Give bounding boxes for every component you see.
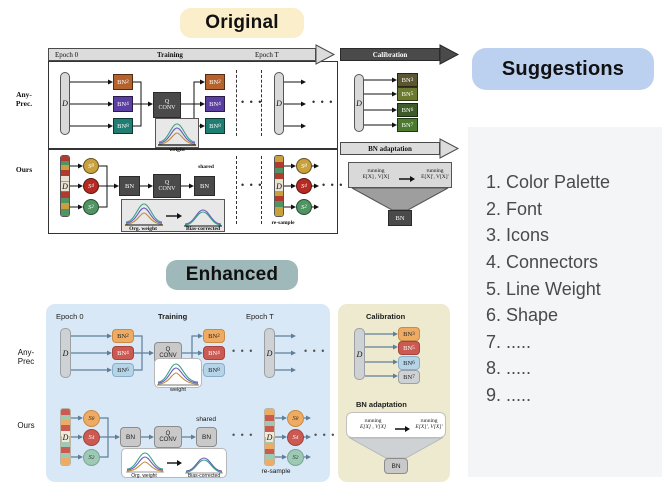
- figure-enhanced: Any- Prec Ours Epoch 0 Training Epoch T …: [8, 296, 460, 486]
- suggestions-list: 1. Color Palette 2. Font 3. Icons 4. Con…: [468, 127, 662, 409]
- list-item: 9. .....: [486, 382, 662, 409]
- list-item: 5. Line Weight: [486, 276, 662, 303]
- list-item: 7. .....: [486, 329, 662, 356]
- list-item: 1. Color Palette: [486, 169, 662, 196]
- bn-block-adapted: BN: [388, 210, 412, 226]
- list-item: 8. .....: [486, 355, 662, 382]
- badge-suggestions: Suggestions: [472, 48, 654, 90]
- badge-original: Original: [180, 8, 304, 38]
- list-item: 2. Font: [486, 196, 662, 223]
- list-item: 3. Icons: [486, 222, 662, 249]
- suggestions-panel: 1. Color Palette 2. Font 3. Icons 4. Con…: [468, 127, 662, 477]
- slide-canvas: Original Enhanced Suggestions 1. Color P…: [0, 0, 672, 490]
- list-item: 6. Shape: [486, 302, 662, 329]
- figure-original: Any- Prec. Ours Epoch 0 Training Epoch T…: [8, 44, 460, 252]
- badge-enhanced: Enhanced: [166, 260, 298, 290]
- list-item: 4. Connectors: [486, 249, 662, 276]
- bn-block-adapted-enhanced: BN: [384, 458, 408, 474]
